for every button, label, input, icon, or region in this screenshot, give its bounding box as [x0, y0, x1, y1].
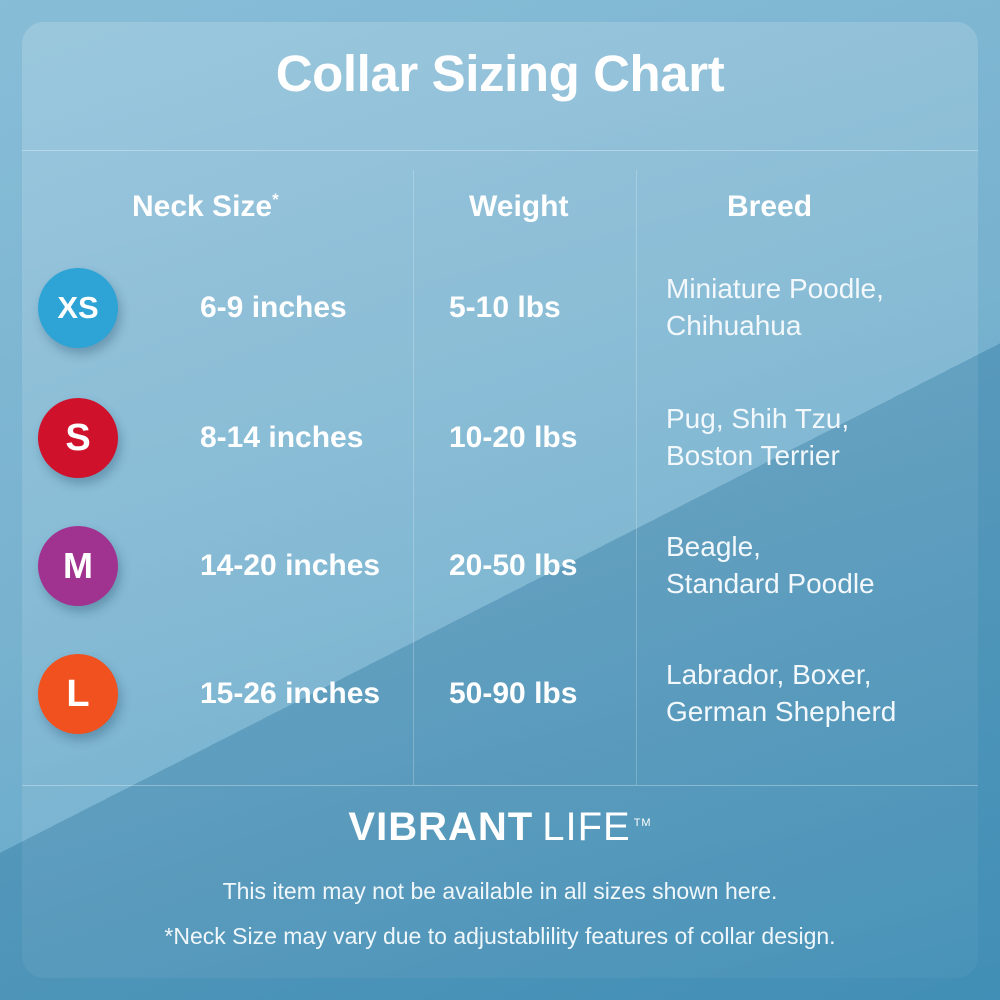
cell-breed-line: Labrador, Boxer,	[666, 657, 974, 694]
cell-breed-line: Beagle,	[666, 529, 974, 566]
table-bottom-divider	[22, 785, 978, 786]
table-row: XS 6-9 inches 5-10 lbs Miniature Poodle,…	[22, 244, 978, 372]
title-divider	[22, 150, 978, 151]
cell-breed-line: Pug, Shih Tzu,	[666, 401, 974, 438]
cell-breed: Labrador, Boxer, German Shepherd	[666, 657, 974, 731]
brand-logo-life: LIFE	[542, 805, 630, 849]
brand-logo-vibrant: VIBRANT	[348, 805, 533, 849]
neck-size-footnote-marker: *	[272, 190, 279, 209]
sizing-chart-page: Collar Sizing Chart Neck Size* Weight Br…	[0, 0, 1000, 1000]
column-header-weight: Weight	[469, 190, 568, 224]
cell-breed-line: Chihuahua	[666, 308, 974, 345]
cell-breed: Beagle, Standard Poodle	[666, 529, 974, 603]
page-title: Collar Sizing Chart	[0, 44, 1000, 103]
cell-weight: 10-20 lbs	[449, 421, 577, 455]
column-header-neck-size: Neck Size*	[132, 190, 279, 224]
footer: VIBRANTLIFETM This item may not be avail…	[0, 805, 1000, 950]
cell-breed-line: Boston Terrier	[666, 438, 974, 475]
cell-neck-size: 6-9 inches	[200, 291, 347, 325]
column-header-neck-size-label: Neck Size	[132, 190, 272, 223]
disclaimer-availability: This item may not be available in all si…	[0, 878, 1000, 905]
table-header-row: Neck Size* Weight Breed	[22, 182, 978, 244]
cell-neck-size: 15-26 inches	[200, 677, 380, 711]
cell-weight: 50-90 lbs	[449, 677, 577, 711]
size-badge-m: M	[38, 526, 118, 606]
cell-breed-line: German Shepherd	[666, 694, 974, 731]
cell-neck-size: 8-14 inches	[200, 421, 363, 455]
table-row: M 14-20 inches 20-50 lbs Beagle, Standar…	[22, 502, 978, 630]
cell-breed-line: Standard Poodle	[666, 566, 974, 603]
table-row: S 8-14 inches 10-20 lbs Pug, Shih Tzu, B…	[22, 374, 978, 502]
sizing-table: Neck Size* Weight Breed XS 6-9 inches 5-…	[22, 170, 978, 785]
size-badge-s: S	[38, 398, 118, 478]
cell-breed: Miniature Poodle, Chihuahua	[666, 271, 974, 345]
disclaimer-neck-size: *Neck Size may vary due to adjustablilit…	[0, 923, 1000, 950]
brand-logo: VIBRANTLIFETM	[0, 805, 1000, 850]
size-badge-xs: XS	[38, 268, 118, 348]
cell-weight: 5-10 lbs	[449, 291, 561, 325]
size-badge-l: L	[38, 654, 118, 734]
cell-weight: 20-50 lbs	[449, 549, 577, 583]
cell-breed-line: Miniature Poodle,	[666, 271, 974, 308]
cell-breed: Pug, Shih Tzu, Boston Terrier	[666, 401, 974, 475]
trademark-symbol: TM	[634, 817, 652, 829]
cell-neck-size: 14-20 inches	[200, 549, 380, 583]
table-row: L 15-26 inches 50-90 lbs Labrador, Boxer…	[22, 630, 978, 758]
column-header-breed: Breed	[727, 190, 812, 224]
